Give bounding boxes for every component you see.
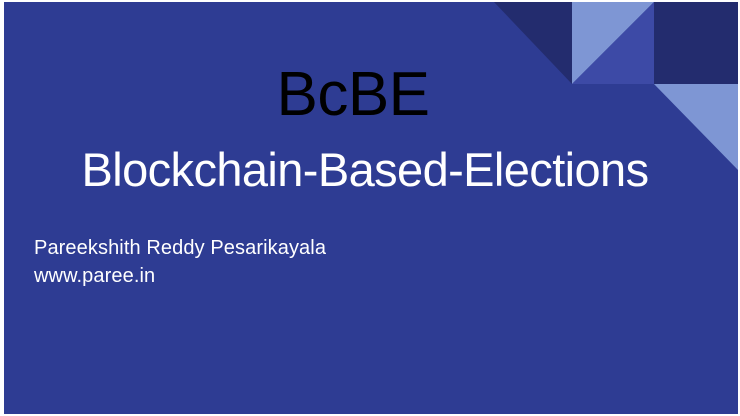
slide-acronym-title: BcBE <box>4 62 738 127</box>
slide-canvas: BcBE Blockchain-Based-Elections Pareeksh… <box>4 2 738 414</box>
slide-acronym-title-text: BcBE <box>276 60 429 129</box>
slide-byline: Pareekshith Reddy Pesarikayala www.paree… <box>34 234 326 291</box>
slide-main-title-text: Blockchain-Based-Elections <box>82 143 649 196</box>
presentation-slide: BcBE Blockchain-Based-Elections Pareeksh… <box>0 0 740 416</box>
slide-main-title: Blockchain-Based-Elections <box>4 144 738 196</box>
author-name: Pareekshith Reddy Pesarikayala <box>34 234 326 262</box>
author-website: www.paree.in <box>34 262 326 290</box>
